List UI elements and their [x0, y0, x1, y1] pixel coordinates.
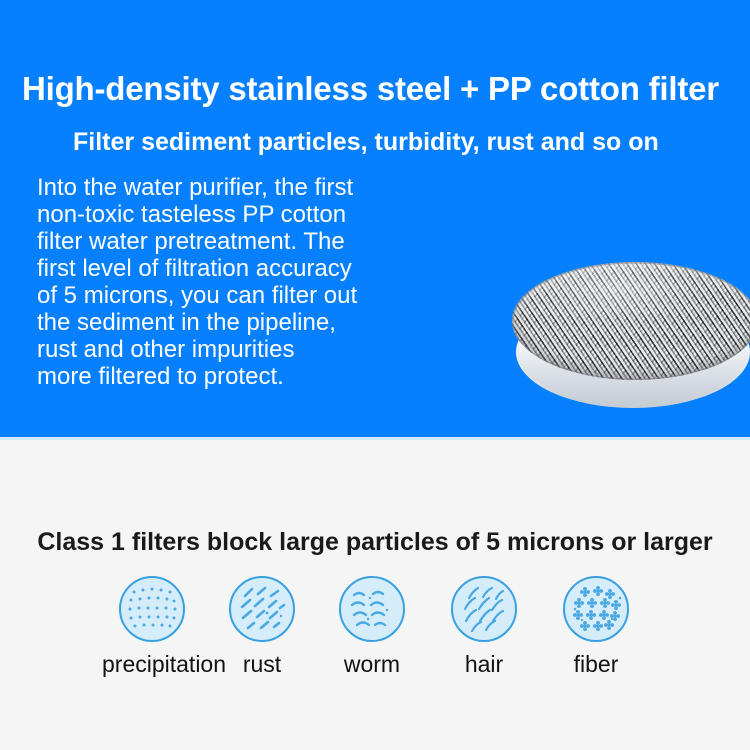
particle-label: hair [434, 651, 534, 677]
particles-panel: Class 1 filters block large particles of… [0, 440, 750, 750]
hair-strands-icon [451, 576, 517, 642]
particles-heading: Class 1 filters block large particles of… [0, 527, 750, 557]
page-title: High-density stainless steel + PP cotton… [22, 70, 737, 108]
infographic-page: High-density stainless steel + PP cotton… [0, 0, 750, 750]
page-subtitle: Filter sediment particles, turbidity, ru… [73, 127, 659, 157]
worm-wavy-lines-icon [339, 576, 405, 642]
hero-description: Into the water purifier, the first non-t… [37, 174, 437, 390]
particle-item-worm: worm [322, 576, 422, 677]
particle-label: rust [212, 651, 312, 677]
hero-description-line: Into the water purifier, the first [37, 174, 437, 201]
hero-description-line: non-toxic tasteless PP cotton [37, 201, 437, 228]
mesh-rim [512, 262, 750, 380]
particle-icon-row: precipitation [104, 576, 646, 696]
fiber-clusters-icon [563, 576, 629, 642]
hero-description-line: of 5 microns, you can filter out [37, 282, 437, 309]
particle-item-precipitation: precipitation [102, 576, 202, 677]
hero-description-line: the sediment in the pipeline, [37, 309, 437, 336]
hero-description-line: more filtered to protect. [37, 363, 437, 390]
precipitation-dots-icon [119, 576, 185, 642]
hero-description-line: first level of filtration accuracy [37, 255, 437, 282]
particle-item-hair: hair [434, 576, 534, 677]
hero-description-line: filter water pretreatment. The [37, 228, 437, 255]
hero-panel: High-density stainless steel + PP cotton… [0, 0, 750, 437]
particle-label: fiber [546, 651, 646, 677]
rust-flakes-icon [229, 576, 295, 642]
hero-description-line: rust and other impurities [37, 336, 437, 363]
particle-item-fiber: fiber [546, 576, 646, 677]
filter-disc-product-image [510, 262, 750, 414]
particle-label: worm [322, 651, 422, 677]
particle-item-rust: rust [212, 576, 312, 677]
particle-label: precipitation [102, 651, 202, 677]
